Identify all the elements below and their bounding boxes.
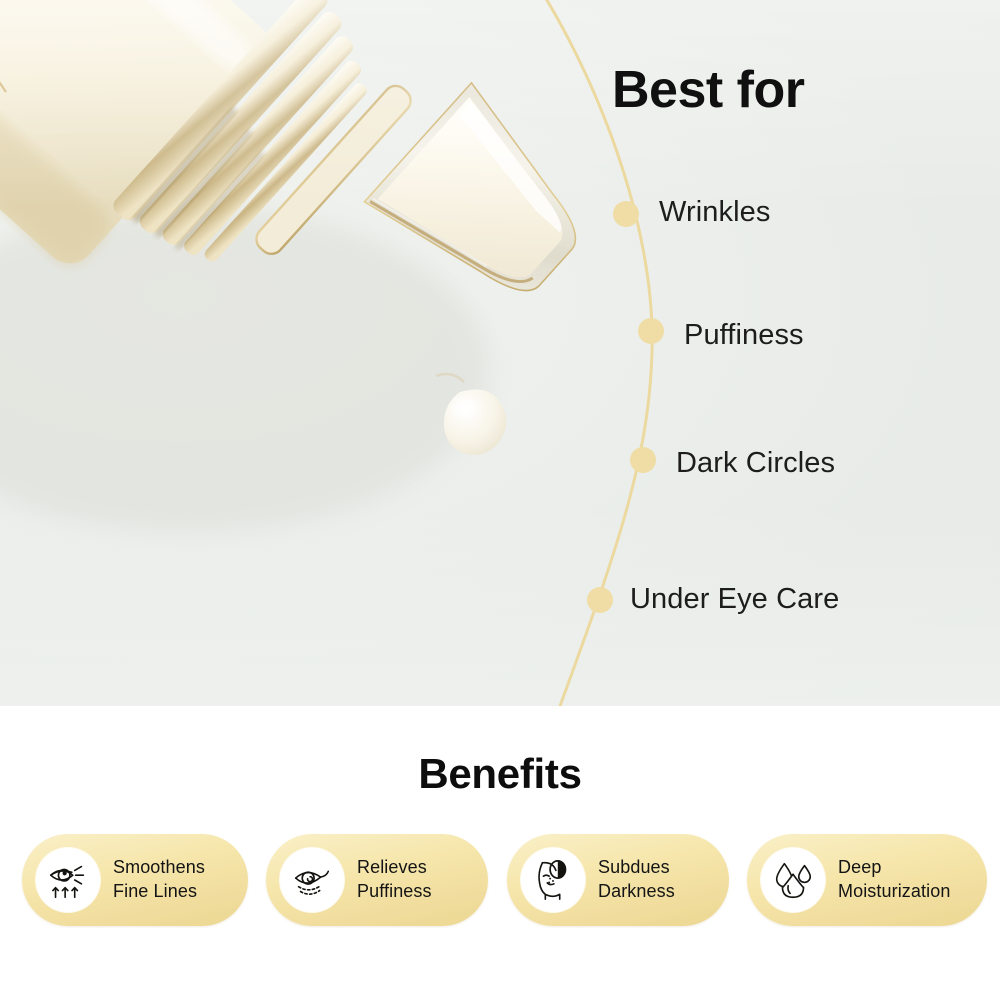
benefit-label-line1: Deep xyxy=(838,856,950,880)
benefit-label-line2: Puffiness xyxy=(357,880,432,904)
benefits-section: Benefits xyxy=(0,706,1000,1000)
benefits-title: Benefits xyxy=(0,750,1000,798)
benefit-label-line2: Fine Lines xyxy=(113,880,205,904)
benefit-pill-deep-moisturization[interactable]: Deep Moisturization xyxy=(747,834,987,926)
benefit-label-line1: Relieves xyxy=(357,856,432,880)
benefit-label: Relieves Puffiness xyxy=(357,856,432,904)
benefit-pill-smoothens-fine-lines[interactable]: Smoothens Fine Lines xyxy=(22,834,248,926)
benefit-label-line2: Darkness xyxy=(598,880,675,904)
water-droplets-icon xyxy=(761,848,825,912)
benefits-pill-row: Smoothens Fine Lines xyxy=(0,834,1000,930)
benefit-label-line1: Subdues xyxy=(598,856,675,880)
best-for-list: Wrinkles Puffiness Dark Circles Under Ey… xyxy=(0,0,1000,706)
benefit-pill-subdues-darkness[interactable]: Subdues Darkness xyxy=(507,834,729,926)
benefit-label: Deep Moisturization xyxy=(838,856,950,904)
benefit-label-line1: Smoothens xyxy=(113,856,205,880)
best-for-item-under-eye-care: Under Eye Care xyxy=(630,583,839,616)
best-for-item-puffiness: Puffiness xyxy=(684,319,804,352)
eye-depuff-icon xyxy=(280,848,344,912)
benefit-label: Smoothens Fine Lines xyxy=(113,856,205,904)
best-for-item-dark-circles: Dark Circles xyxy=(676,447,835,480)
benefit-label-line2: Moisturization xyxy=(838,880,950,904)
face-dark-circle-icon xyxy=(521,848,585,912)
benefit-pill-relieves-puffiness[interactable]: Relieves Puffiness xyxy=(266,834,488,926)
hero-section: fl.oz. 30 ml xyxy=(0,0,1000,706)
benefit-label: Subdues Darkness xyxy=(598,856,675,904)
best-for-item-wrinkles: Wrinkles xyxy=(659,196,770,229)
eye-lift-arrows-icon xyxy=(36,848,100,912)
infographic-page: fl.oz. 30 ml xyxy=(0,0,1000,1000)
